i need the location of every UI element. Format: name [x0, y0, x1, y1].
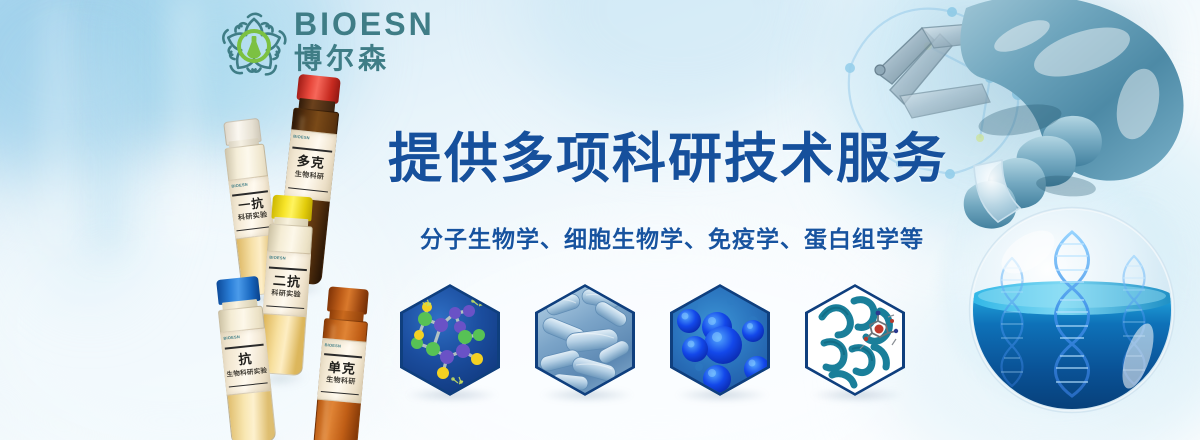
vial-label: BIOESN 抗 生物科研实验: [220, 327, 271, 395]
hex-tile-protein[interactable]: [805, 284, 905, 396]
hexagon-frame: [535, 284, 635, 396]
background-streak: [98, 0, 120, 250]
background-streak: [52, 0, 62, 250]
vial-label: BIOESN 多克 生物科研: [284, 129, 337, 201]
flask-glow: [940, 165, 1190, 415]
hexagon-frame: [670, 284, 770, 396]
logo-text-cn: 博尔森: [294, 42, 418, 76]
vial-label: BIOESN 二抗 科研实验: [263, 250, 311, 317]
background-blur-blob: [30, 40, 150, 300]
background-blur-blob: [520, 0, 840, 130]
dna-helix: [1123, 256, 1145, 384]
hex-tile-cells[interactable]: [670, 284, 770, 396]
label-brand: BIOESN: [269, 255, 286, 261]
background-blur-blob: [0, 0, 220, 180]
list-item: BIOESN 单克 生物科研: [306, 285, 378, 440]
brand-logo[interactable]: BIOESN 博尔森: [218, 6, 418, 84]
vial-label-sublabel: 科研实验: [264, 287, 309, 300]
label-brand: BIOESN: [223, 334, 240, 341]
background-blur-blob: [880, 250, 1200, 440]
headline-block: 提供多项科研技术服务 分子生物学、细胞生物学、免疫学、蛋白组学等: [388, 126, 948, 254]
hex-tile-molecule[interactable]: [400, 284, 500, 396]
banner-hero: BIOESN 博尔森 提供多项科研技术服务 分子生物学、细胞生物学、免疫学、蛋白…: [0, 0, 1200, 440]
hex-tile-bacteria[interactable]: [535, 284, 635, 396]
vial-label: BIOESN 单克 生物科研: [317, 338, 366, 404]
liquid-surface: [970, 281, 1174, 315]
label-brand: BIOESN: [324, 342, 341, 348]
flask-liquid: [970, 298, 1174, 418]
dna-helix: [1001, 258, 1023, 386]
page-title: 提供多项科研技术服务: [388, 126, 948, 192]
flask-in-circle-mandala-icon: [218, 10, 290, 82]
background-streak: [178, 0, 192, 250]
round-bottom-flask: [970, 208, 1174, 412]
hexagon-frame: [400, 284, 500, 396]
page-subtitle: 分子生物学、细胞生物学、免疫学、蛋白组学等: [420, 224, 948, 254]
dna-helix: [1056, 232, 1089, 396]
label-brand: BIOESN: [293, 134, 310, 141]
hexagon-frame: [805, 284, 905, 396]
logo-text-en: BIOESN: [294, 6, 418, 42]
label-brand: BIOESN: [231, 182, 248, 189]
